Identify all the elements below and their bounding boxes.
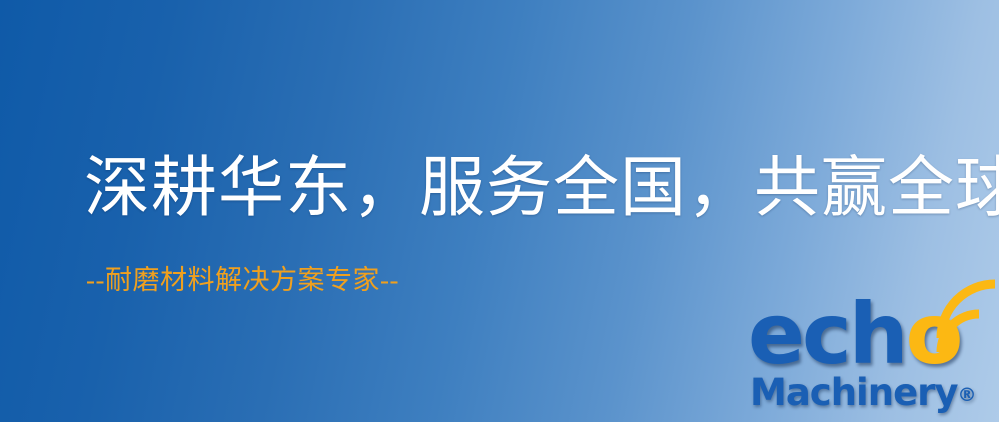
company-logo: echo Machinery® (742, 296, 999, 422)
logo-tagline: Machinery® (750, 374, 977, 411)
logo-tagline-text: Machinery (750, 371, 958, 414)
signal-arcs-icon (927, 290, 999, 356)
banner-headline: 深耕华东，服务全国，共赢全球 (84, 152, 999, 226)
logo-wordmark-primary: ech (748, 285, 906, 383)
promotional-banner: 深耕华东，服务全国，共赢全球 --耐磨材料解决方案专家-- echo Machi… (0, 0, 999, 422)
registered-trademark-icon: ® (958, 384, 977, 406)
banner-subheadline: --耐磨材料解决方案专家-- (86, 264, 399, 296)
